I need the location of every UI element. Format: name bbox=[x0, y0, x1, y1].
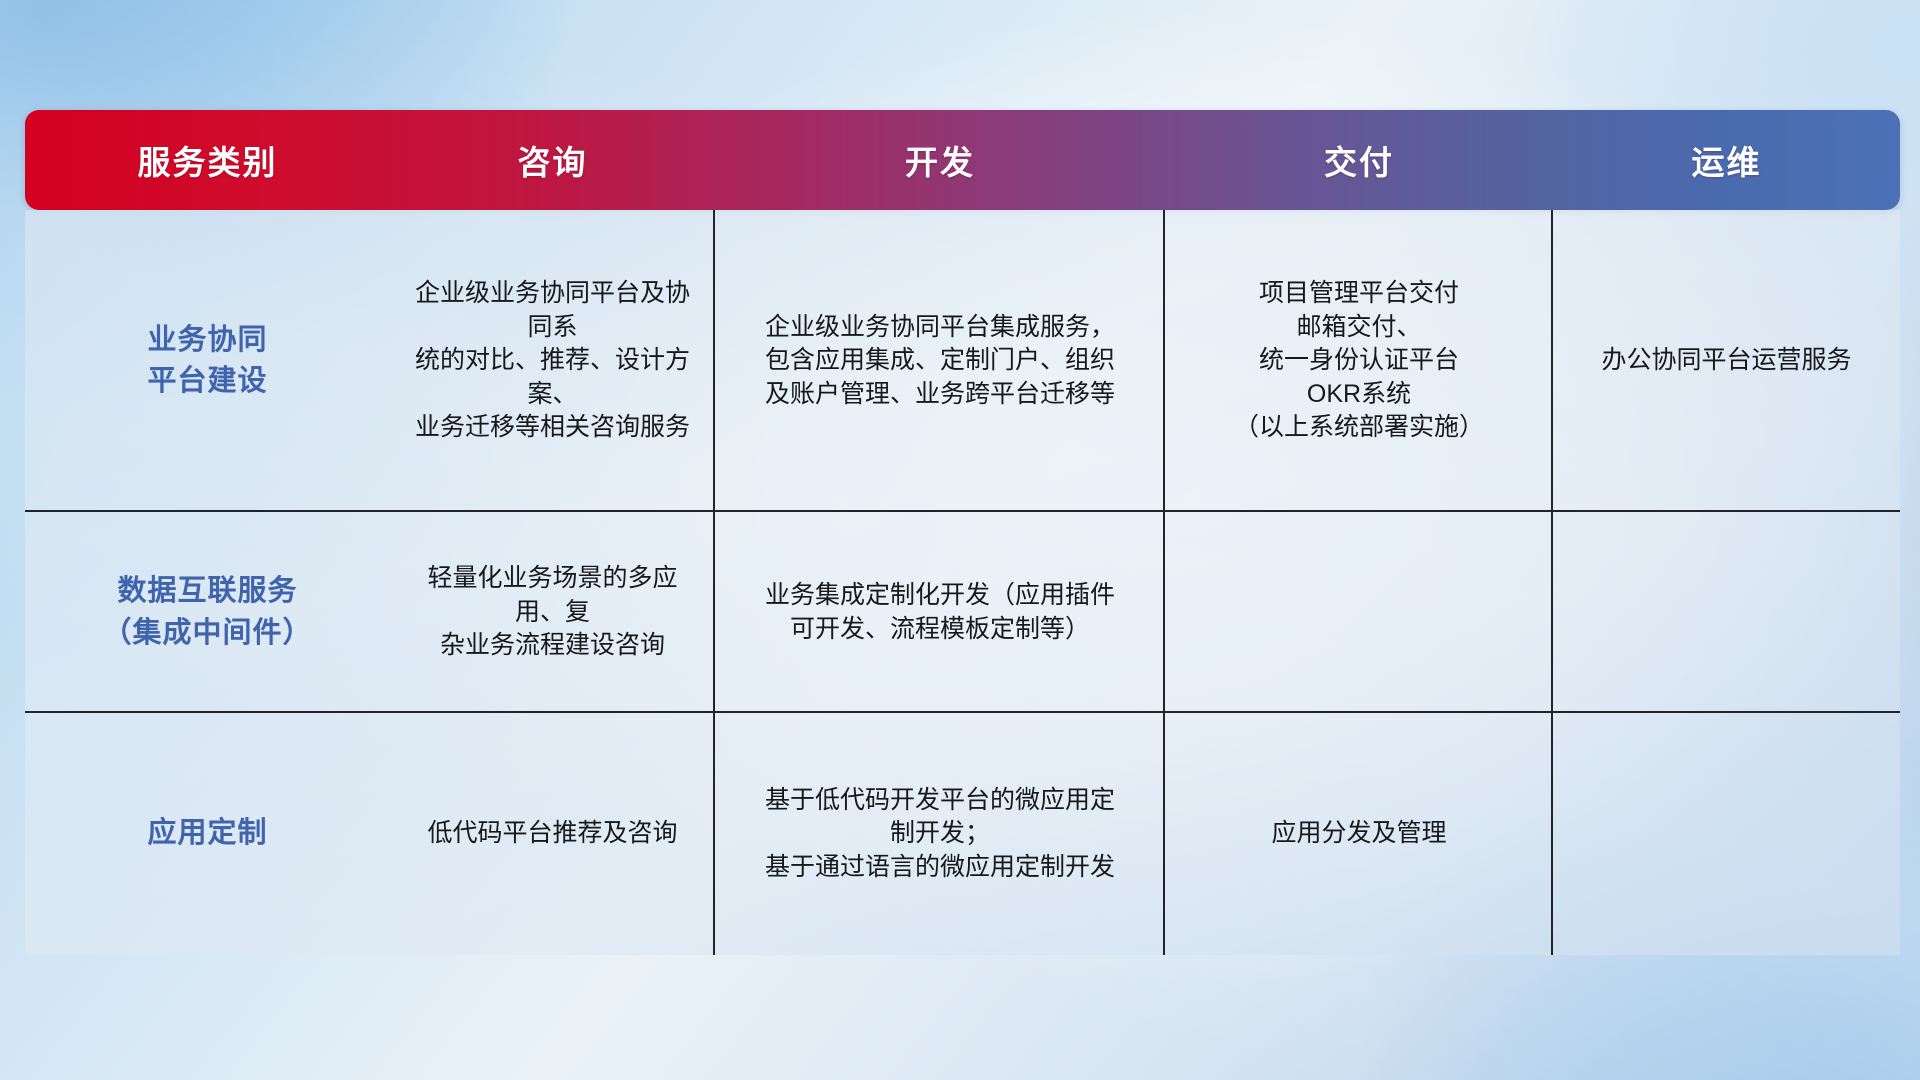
header-cell-development: 开发 bbox=[715, 110, 1165, 210]
table-header-row: 服务类别 咨询 开发 交付 运维 bbox=[25, 110, 1900, 210]
cell-development-row2: 业务集成定制化开发（应用插件 可开发、流程模板定制等） bbox=[715, 512, 1165, 713]
cell-operations-row1: 办公协同平台运营服务 bbox=[1553, 210, 1900, 512]
header-cell-operations: 运维 bbox=[1553, 110, 1900, 210]
row-label-application-customization: 应用定制 bbox=[25, 713, 390, 955]
table-body: 业务协同 平台建设 企业级业务协同平台及协同系 统的对比、推荐、设计方案、 业务… bbox=[25, 210, 1900, 955]
header-cell-consulting: 咨询 bbox=[390, 110, 715, 210]
service-matrix-table: 服务类别 咨询 开发 交付 运维 业务协同 平台建设 企业级业务协同平台及协同系… bbox=[25, 110, 1900, 955]
cell-development-row1: 企业级业务协同平台集成服务， 包含应用集成、定制门户、组织 及账户管理、业务跨平… bbox=[715, 210, 1165, 512]
cell-delivery-row3: 应用分发及管理 bbox=[1165, 713, 1553, 955]
header-cell-delivery: 交付 bbox=[1165, 110, 1553, 210]
table-row: 应用定制 低代码平台推荐及咨询 基于低代码开发平台的微应用定 制开发； 基于通过… bbox=[25, 713, 1900, 955]
cell-consulting-row3: 低代码平台推荐及咨询 bbox=[390, 713, 715, 955]
header-label-delivery: 交付 bbox=[1324, 136, 1394, 184]
cell-delivery-row2 bbox=[1165, 512, 1553, 713]
cell-consulting-row2: 轻量化业务场景的多应用、复 杂业务流程建设咨询 bbox=[390, 512, 715, 713]
row-label-business-collaboration: 业务协同 平台建设 bbox=[25, 210, 390, 512]
header-label-development: 开发 bbox=[905, 136, 975, 184]
cell-delivery-row1: 项目管理平台交付 邮箱交付、 统一身份认证平台 OKR系统 （以上系统部署实施） bbox=[1165, 210, 1553, 512]
cell-operations-row3 bbox=[1553, 713, 1900, 955]
header-label-category: 服务类别 bbox=[138, 136, 278, 184]
table-row: 数据互联服务 （集成中间件） 轻量化业务场景的多应用、复 杂业务流程建设咨询 业… bbox=[25, 512, 1900, 713]
cell-consulting-row1: 企业级业务协同平台及协同系 统的对比、推荐、设计方案、 业务迁移等相关咨询服务 bbox=[390, 210, 715, 512]
header-label-operations: 运维 bbox=[1692, 136, 1762, 184]
header-label-consulting: 咨询 bbox=[518, 136, 588, 184]
cell-development-row3: 基于低代码开发平台的微应用定 制开发； 基于通过语言的微应用定制开发 bbox=[715, 713, 1165, 955]
table-row: 业务协同 平台建设 企业级业务协同平台及协同系 统的对比、推荐、设计方案、 业务… bbox=[25, 210, 1900, 512]
cell-operations-row2 bbox=[1553, 512, 1900, 713]
row-label-data-interconnect: 数据互联服务 （集成中间件） bbox=[25, 512, 390, 713]
header-cell-category: 服务类别 bbox=[25, 110, 390, 210]
